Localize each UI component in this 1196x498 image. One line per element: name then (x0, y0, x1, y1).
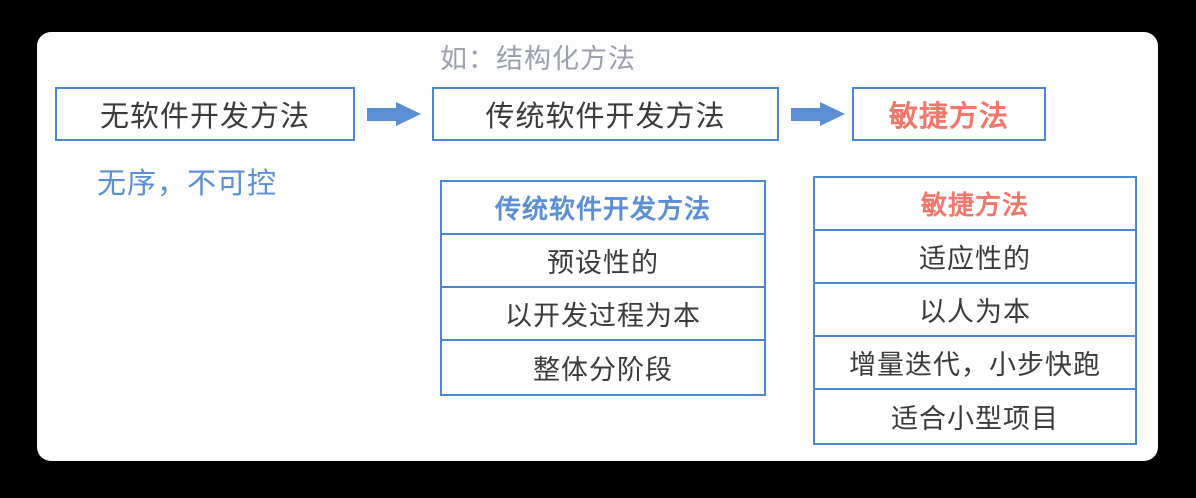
table-row: 增量迭代，小步快跑 (815, 337, 1135, 390)
comparison-table-agile: 敏捷方法 适应性的 以人为本 增量迭代，小步快跑 适合小型项目 (813, 176, 1137, 445)
caption-structured-method: 如：结构化方法 (440, 37, 636, 76)
table-cell: 预设性的 (547, 241, 659, 280)
table-row: 以开发过程为本 (442, 288, 764, 341)
table-cell: 适合小型项目 (891, 397, 1059, 436)
table-header-label: 传统软件开发方法 (495, 189, 711, 226)
table-cell: 以开发过程为本 (505, 294, 701, 333)
table-header-row: 传统软件开发方法 (442, 182, 764, 235)
slide-canvas: 如：结构化方法 无软件开发方法 传统软件开发方法 敏捷方法 无序，不可控 传统软… (0, 0, 1196, 498)
arrow-right-icon (367, 102, 421, 126)
flow-box-agile-method: 敏捷方法 (852, 87, 1046, 141)
arrow-right-icon (791, 102, 845, 126)
comparison-table-traditional: 传统软件开发方法 预设性的 以开发过程为本 整体分阶段 (440, 180, 766, 396)
note-disordered-uncontrollable: 无序，不可控 (97, 160, 277, 202)
table-header-label: 敏捷方法 (921, 185, 1029, 222)
table-cell: 整体分阶段 (533, 348, 673, 387)
flow-box-no-method: 无软件开发方法 (55, 87, 355, 141)
table-row: 适应性的 (815, 231, 1135, 284)
table-row: 以人为本 (815, 284, 1135, 337)
table-row: 适合小型项目 (815, 390, 1135, 443)
table-header-row: 敏捷方法 (815, 178, 1135, 231)
table-row: 整体分阶段 (442, 341, 764, 394)
arrow-head (396, 102, 421, 126)
table-cell: 增量迭代，小步快跑 (849, 343, 1101, 382)
flow-box-no-method-label: 无软件开发方法 (100, 93, 310, 135)
table-cell: 适应性的 (919, 237, 1031, 276)
table-row: 预设性的 (442, 235, 764, 288)
flow-box-traditional-method-label: 传统软件开发方法 (485, 93, 725, 135)
table-cell: 以人为本 (919, 290, 1031, 329)
arrow-head (820, 102, 845, 126)
flow-box-agile-method-label: 敏捷方法 (889, 93, 1009, 135)
flow-box-traditional-method: 传统软件开发方法 (432, 87, 779, 141)
slide-card: 如：结构化方法 无软件开发方法 传统软件开发方法 敏捷方法 无序，不可控 传统软… (37, 32, 1158, 461)
